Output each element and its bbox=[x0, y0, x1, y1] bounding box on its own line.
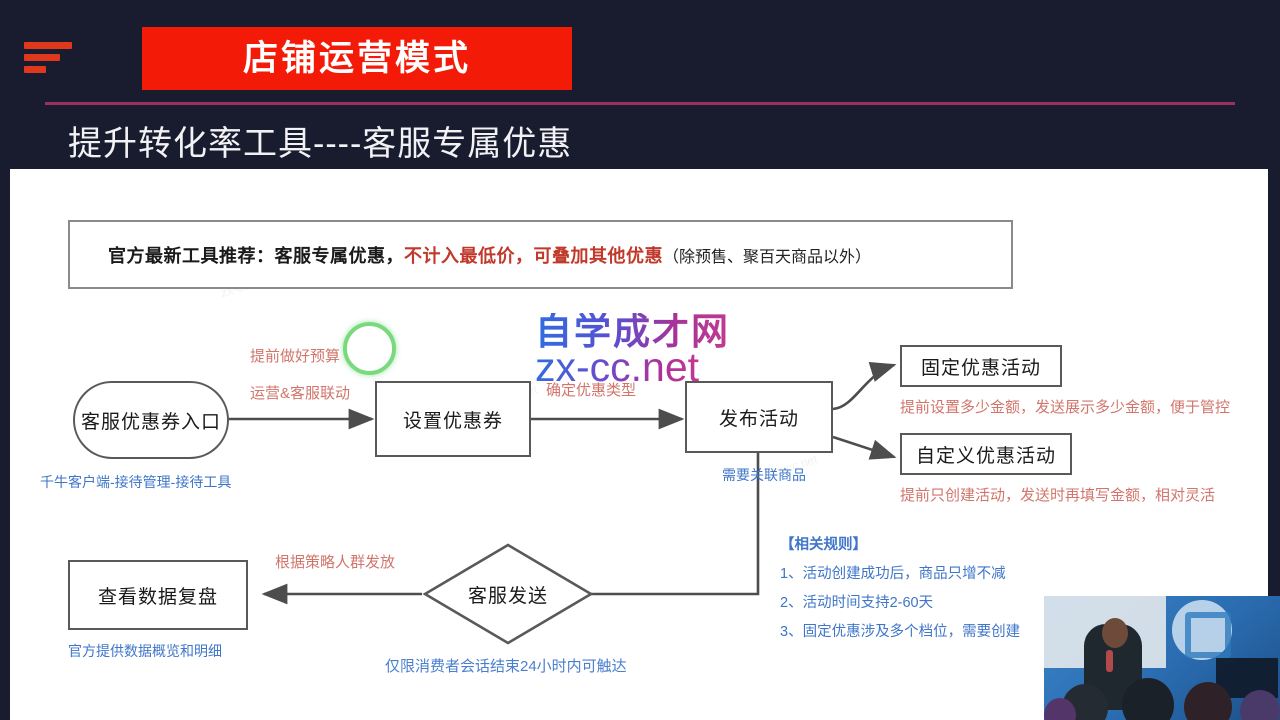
video-audience bbox=[1044, 678, 1280, 720]
sort-bar-3 bbox=[24, 66, 46, 73]
rules-heading: 【相关规则】 bbox=[780, 531, 1020, 560]
annotation-link-product: 需要关联商品 bbox=[722, 465, 806, 485]
flow-node-entry[interactable]: 客服优惠券入口 bbox=[73, 381, 229, 459]
flow-node-fixed-label: 固定优惠活动 bbox=[921, 353, 1041, 380]
audience-head bbox=[1184, 682, 1232, 720]
annotation-distribution: 根据策略人群发放 bbox=[275, 551, 395, 572]
flow-node-entry-label: 客服优惠券入口 bbox=[81, 407, 221, 434]
presentation-slide-window: 店铺运营模式 提升转化率工具----客服专属优惠 bbox=[0, 0, 1280, 720]
watermark-line-1: 自学成才网 bbox=[535, 313, 730, 352]
callout-part-1: 官方最新工具推荐：客服专属优惠， bbox=[108, 246, 404, 266]
annotation-fixed-desc: 提前设置多少金额，发送展示多少金额，便于管控 bbox=[900, 396, 1230, 417]
flow-node-setup-label: 设置优惠券 bbox=[403, 406, 503, 433]
flow-node-setup[interactable]: 设置优惠券 bbox=[375, 381, 531, 457]
annotation-data-detail: 官方提供数据概览和明细 bbox=[68, 641, 222, 661]
annotation-entry-path: 千牛客户端-接待管理-接待工具 bbox=[40, 472, 231, 492]
callout-part-3: （除预售、聚百天商品以外） bbox=[663, 249, 871, 266]
video-microphone bbox=[1106, 650, 1113, 672]
annotation-budget: 提前做好预算 bbox=[250, 345, 340, 366]
section-banner: 店铺运营模式 bbox=[142, 27, 572, 90]
annotation-24h-reach: 仅限消费者会话结束24小时内可触达 bbox=[385, 655, 627, 676]
green-highlight-circle bbox=[343, 322, 396, 375]
annotation-coordination: 运营&客服联动 bbox=[250, 382, 350, 403]
flow-node-send-label: 客服发送 bbox=[422, 542, 594, 646]
sort-bar-1 bbox=[24, 42, 72, 49]
rules-block: 【相关规则】 1、活动创建成功后，商品只增不减 2、活动时间支持2-60天 3、… bbox=[780, 531, 1020, 647]
flow-node-custom-label: 自定义优惠活动 bbox=[916, 441, 1056, 468]
rules-item-3: 3、固定优惠涉及多个档位，需要创建 bbox=[780, 618, 1020, 647]
callout-text: 官方最新工具推荐：客服专属优惠，不计入最低价，可叠加其他优惠（除预售、聚百天商品… bbox=[108, 242, 871, 268]
flow-node-review-label: 查看数据复盘 bbox=[98, 582, 218, 609]
highlight-callout-box: 官方最新工具推荐：客服专属优惠，不计入最低价，可叠加其他优惠（除预售、聚百天商品… bbox=[68, 220, 1013, 289]
page-title: 提升转化率工具----客服专属优惠 bbox=[68, 116, 572, 165]
annotation-custom-desc: 提前只创建活动，发送时再填写金额，相对灵活 bbox=[900, 484, 1215, 505]
rules-item-1: 1、活动创建成功后，商品只增不减 bbox=[780, 560, 1020, 589]
header-divider bbox=[45, 102, 1235, 105]
callout-part-2-red: 不计入最低价，可叠加其他优惠 bbox=[404, 246, 663, 266]
flow-node-publish-label: 发布活动 bbox=[719, 404, 799, 431]
flow-node-fixed[interactable]: 固定优惠活动 bbox=[900, 345, 1062, 387]
audience-head bbox=[1240, 690, 1280, 720]
flow-node-review[interactable]: 查看数据复盘 bbox=[68, 560, 248, 630]
annotation-coupon-type: 确定优惠类型 bbox=[546, 379, 636, 400]
section-banner-label: 店铺运营模式 bbox=[243, 41, 471, 76]
sort-bar-2 bbox=[24, 54, 60, 61]
sort-bars-icon[interactable] bbox=[24, 42, 76, 80]
site-watermark: 自学成才网 zx-cc.net bbox=[535, 313, 730, 389]
flow-node-publish[interactable]: 发布活动 bbox=[685, 381, 833, 453]
presenter-video-overlay[interactable] bbox=[1044, 596, 1280, 720]
video-presenter-head bbox=[1102, 618, 1128, 648]
rules-item-2: 2、活动时间支持2-60天 bbox=[780, 589, 1020, 618]
flow-node-custom[interactable]: 自定义优惠活动 bbox=[900, 433, 1072, 475]
video-brand-logo bbox=[1172, 600, 1232, 660]
audience-head bbox=[1122, 678, 1174, 720]
flow-node-send[interactable]: 客服发送 bbox=[422, 542, 594, 646]
